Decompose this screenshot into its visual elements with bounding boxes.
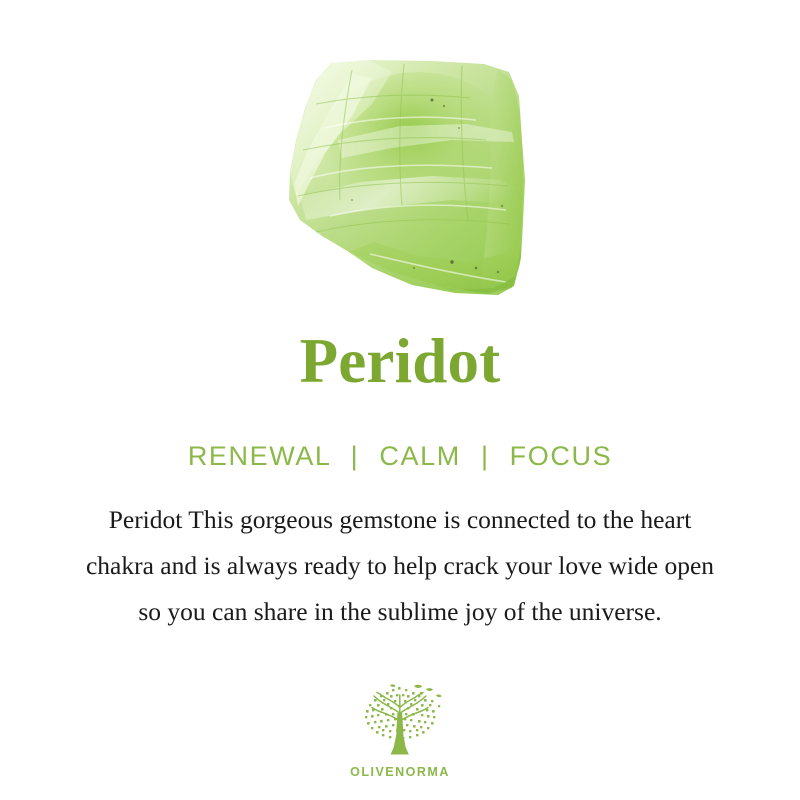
tagline-item-focus: FOCUS (510, 441, 613, 471)
product-description: Peridot This gorgeous gemstone is connec… (0, 497, 800, 635)
brand-name: OLIVENORMA (0, 765, 800, 779)
product-tagline: RENEWAL | CALM | FOCUS (0, 440, 800, 472)
brand-logo: OLIVENORMA (0, 683, 800, 779)
tagline-separator: | (340, 440, 371, 472)
product-card: Peridot RENEWAL | CALM | FOCUS Peridot T… (0, 0, 800, 800)
description-line: Peridot This gorgeous gemstone is connec… (0, 497, 800, 543)
gemstone-illustration (0, 0, 800, 320)
page-title: Peridot (0, 330, 800, 393)
description-line: so you can share in the sublime joy of t… (0, 589, 800, 635)
tagline-item-renewal: RENEWAL (188, 441, 331, 471)
tagline-item-calm: CALM (379, 441, 460, 471)
tree-of-life-icon (352, 683, 448, 763)
tagline-separator: | (470, 440, 501, 472)
description-line: chakra and is always ready to help crack… (0, 543, 800, 589)
peridot-gemstone-image (0, 0, 800, 320)
